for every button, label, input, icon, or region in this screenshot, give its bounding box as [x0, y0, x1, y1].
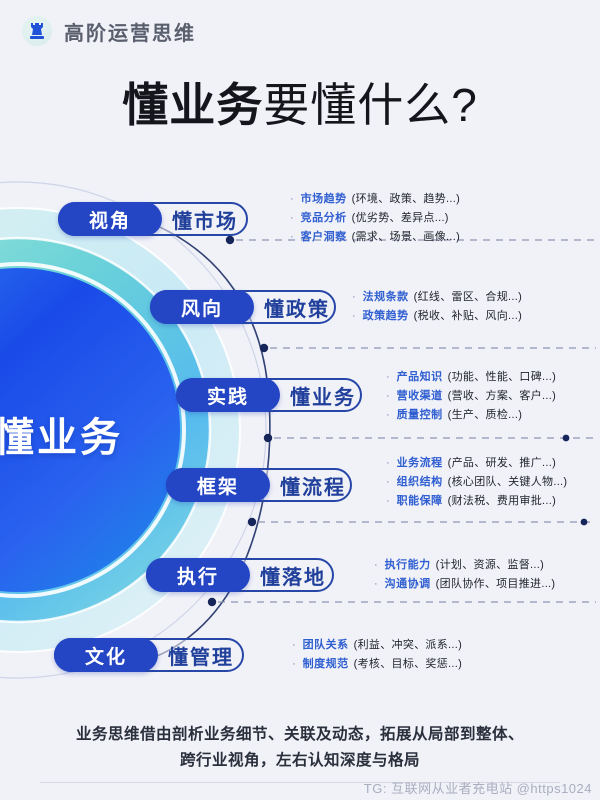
connector-node	[260, 344, 268, 352]
connector-node	[226, 236, 234, 244]
detail-sub: (优劣势、差异点...)	[352, 209, 449, 228]
detail-item: · 产品知识 (功能、性能、口碑...)	[386, 368, 556, 387]
detail-sub: (营收、方案、客户...)	[448, 387, 556, 406]
footer-line-2: 跨行业视角，左右认知深度与格局	[0, 748, 600, 774]
branch-tag-5[interactable]: 文化	[54, 638, 158, 672]
detail-key: 质量控制	[397, 406, 443, 425]
detail-item: · 沟通协调 (团队协作、项目推进...)	[374, 575, 555, 594]
detail-item: · 执行能力 (计划、资源、监督...)	[374, 556, 555, 575]
detail-key: 竞品分析	[301, 209, 347, 228]
branch-label-1: 懂政策	[264, 293, 330, 322]
bullet-icon: ·	[386, 492, 390, 511]
branch-tag-1[interactable]: 风向	[150, 290, 254, 324]
diagram-stage: 懂业务 视角 懂市场 · 市场趋势 (环境、政策、趋势...) · 竞品分析 (…	[0, 150, 600, 710]
bullet-icon: ·	[386, 406, 390, 425]
branch-pill-1[interactable]: 风向 懂政策	[150, 290, 336, 324]
bullet-icon: ·	[374, 575, 378, 594]
detail-key: 法规条款	[363, 288, 409, 307]
footer-line-1: 业务思维借由剖析业务细节、关联及动态，拓展从局部到整体、	[0, 722, 600, 748]
detail-key: 政策趋势	[363, 307, 409, 326]
bullet-icon: ·	[352, 288, 356, 307]
bullet-icon: ·	[290, 228, 294, 247]
detail-sub: (环境、政策、趋势...)	[352, 190, 460, 209]
bullet-icon: ·	[292, 636, 296, 655]
branch-details-1: · 法规条款 (红线、雷区、合规...) · 政策趋势 (税收、补贴、风向...…	[352, 288, 522, 326]
detail-sub: (考核、目标、奖惩...)	[354, 655, 462, 674]
detail-item: · 营收渠道 (营收、方案、客户...)	[386, 387, 556, 406]
detail-item: · 职能保障 (财法税、费用审批...)	[386, 492, 567, 511]
branch-pill-3[interactable]: 框架 懂流程	[166, 468, 352, 502]
branch-pill-2[interactable]: 实践 懂业务	[176, 378, 362, 412]
bullet-icon: ·	[292, 655, 296, 674]
detail-sub: (利益、冲突、派系...)	[354, 636, 462, 655]
branch-details-2: · 产品知识 (功能、性能、口碑...) · 营收渠道 (营收、方案、客户...…	[386, 368, 556, 425]
branch-pill-0[interactable]: 视角 懂市场	[58, 202, 248, 236]
page-title-light: 要懂什么?	[263, 79, 478, 131]
page-footer: 业务思维借由剖析业务细节、关联及动态，拓展从局部到整体、 跨行业视角，左右认知深…	[0, 722, 600, 783]
detail-sub: (财法税、费用审批...)	[448, 492, 556, 511]
branch-details-5: · 团队关系 (利益、冲突、派系...) · 制度规范 (考核、目标、奖惩...…	[292, 636, 462, 674]
branch-details-3: · 业务流程 (产品、研发、推广...) · 组织结构 (核心团队、关键人物..…	[386, 454, 567, 511]
detail-item: · 组织结构 (核心团队、关键人物...)	[386, 473, 567, 492]
detail-sub: (需求、场景、画像...)	[352, 228, 460, 247]
detail-item: · 质量控制 (生产、质检...)	[386, 406, 556, 425]
detail-item: · 竞品分析 (优劣势、差异点...)	[290, 209, 460, 228]
branch-pill-5[interactable]: 文化 懂管理	[54, 638, 244, 672]
detail-item: · 政策趋势 (税收、补贴、风向...)	[352, 307, 522, 326]
detail-item: · 客户洞察 (需求、场景、画像...)	[290, 228, 460, 247]
branch-label-5: 懂管理	[168, 641, 234, 670]
bullet-icon: ·	[352, 307, 356, 326]
bullet-icon: ·	[374, 556, 378, 575]
detail-key: 沟通协调	[385, 575, 431, 594]
chess-rook-icon	[22, 16, 52, 46]
bullet-icon: ·	[386, 473, 390, 492]
detail-key: 团队关系	[303, 636, 349, 655]
connector-node	[248, 518, 256, 526]
core-label: 懂业务	[0, 405, 123, 463]
bullet-icon: ·	[290, 209, 294, 228]
page-title-strong: 懂业务	[122, 79, 263, 131]
detail-key: 业务流程	[397, 454, 443, 473]
watermark: TG: 互联网从业者充电站 @https1024	[364, 778, 592, 797]
page-title: 懂业务要懂什么?	[0, 78, 600, 132]
branch-details-0: · 市场趋势 (环境、政策、趋势...) · 竞品分析 (优劣势、差异点...)…	[290, 190, 460, 247]
detail-sub: (产品、研发、推广...)	[448, 454, 556, 473]
detail-key: 职能保障	[397, 492, 443, 511]
bullet-icon: ·	[386, 454, 390, 473]
detail-sub: (核心团队、关键人物...)	[448, 473, 568, 492]
detail-key: 客户洞察	[301, 228, 347, 247]
detail-item: · 制度规范 (考核、目标、奖惩...)	[292, 655, 462, 674]
bullet-icon: ·	[290, 190, 294, 209]
branch-tag-3[interactable]: 框架	[166, 468, 270, 502]
detail-sub: (功能、性能、口碑...)	[448, 368, 556, 387]
branch-tag-0[interactable]: 视角	[58, 202, 162, 236]
bullet-icon: ·	[386, 387, 390, 406]
connector-node	[264, 434, 272, 442]
detail-sub: (团队协作、项目推进...)	[436, 575, 556, 594]
branch-tag-2[interactable]: 实践	[176, 378, 280, 412]
detail-key: 市场趋势	[301, 190, 347, 209]
detail-key: 产品知识	[397, 368, 443, 387]
branch-pill-4[interactable]: 执行 懂落地	[146, 558, 334, 592]
bullet-icon: ·	[386, 368, 390, 387]
branch-label-3: 懂流程	[280, 471, 346, 500]
detail-sub: (生产、质检...)	[448, 406, 523, 425]
detail-item: · 团队关系 (利益、冲突、派系...)	[292, 636, 462, 655]
branch-label-2: 懂业务	[290, 381, 356, 410]
detail-key: 执行能力	[385, 556, 431, 575]
page-header: 高阶运营思维	[0, 0, 600, 62]
detail-sub: (红线、雷区、合规...)	[414, 288, 522, 307]
detail-item: · 业务流程 (产品、研发、推广...)	[386, 454, 567, 473]
detail-key: 营收渠道	[397, 387, 443, 406]
detail-sub: (税收、补贴、风向...)	[414, 307, 522, 326]
branch-details-4: · 执行能力 (计划、资源、监督...) · 沟通协调 (团队协作、项目推进..…	[374, 556, 555, 594]
detail-item: · 市场趋势 (环境、政策、趋势...)	[290, 190, 460, 209]
branch-tag-4[interactable]: 执行	[146, 558, 250, 592]
branch-label-0: 懂市场	[172, 205, 238, 234]
detail-key: 制度规范	[303, 655, 349, 674]
branch-label-4: 懂落地	[260, 561, 326, 590]
detail-item: · 法规条款 (红线、雷区、合规...)	[352, 288, 522, 307]
brand-title: 高阶运营思维	[64, 17, 196, 46]
connector-node	[208, 598, 216, 606]
detail-key: 组织结构	[397, 473, 443, 492]
detail-sub: (计划、资源、监督...)	[436, 556, 544, 575]
